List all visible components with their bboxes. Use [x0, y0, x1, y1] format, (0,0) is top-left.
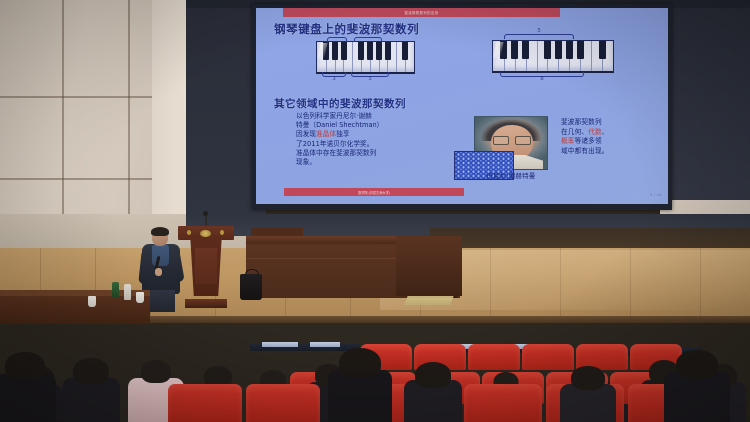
- slide-body-text: 以色列科学家丹尼尔·谢赫 特曼（Daniel Shechtman） 因发现准晶体…: [296, 112, 408, 167]
- right-keyboard: [492, 40, 614, 73]
- presenter-scarf: [152, 244, 169, 266]
- right-line-2-a: 在几何、: [561, 128, 588, 136]
- portrait-caption: 丹尼尔·谢赫特曼: [468, 171, 554, 180]
- podium-emblem: [200, 230, 211, 237]
- body-line-1: 以色列科学家丹尼尔·谢赫: [296, 112, 408, 121]
- audience-member: [664, 350, 730, 422]
- audience-area: [0, 300, 750, 422]
- seat: [464, 384, 542, 422]
- slide-footer-bar: 数学院 (内蒙古师大学): [284, 188, 464, 196]
- slide-header-text: 斐波那契数列的应用: [404, 10, 438, 15]
- audience-member: [62, 358, 120, 422]
- bracket-label: 2: [327, 31, 347, 37]
- lecture-hall-scene: 斐波那契数列的应用 钢琴键盘上的斐波那契数列: [0, 0, 750, 422]
- projected-slide: 斐波那契数列的应用 钢琴键盘上的斐波那契数列: [256, 8, 668, 204]
- right-line-3-b: 等诸多领: [575, 137, 602, 145]
- body-line-2-en: Daniel Shechtman: [316, 121, 377, 129]
- stage-table-right: [396, 236, 462, 296]
- slide-page-number: 9 / 48: [650, 193, 662, 197]
- bracket-label: 8: [500, 76, 584, 82]
- audience-member: [560, 366, 616, 422]
- body-line-3: 因发现准晶体独享: [296, 130, 408, 139]
- body-line-3-suffix: 独享: [336, 130, 349, 138]
- dark-wall-panel-right: [672, 0, 750, 214]
- seat: [246, 384, 320, 422]
- wall-pilaster: [152, 0, 188, 232]
- water-bottle: [112, 282, 119, 298]
- audience-member: [404, 362, 462, 422]
- wooden-podium: [178, 226, 234, 308]
- audience-member: [328, 348, 392, 422]
- right-line-3: 概率等诸多领: [561, 137, 633, 147]
- body-line-6: 现象。: [296, 158, 408, 167]
- right-line-1: 斐波那契数列: [561, 118, 633, 128]
- body-line-2-suffix: ）: [377, 121, 384, 129]
- left-keyboard: [316, 41, 415, 74]
- slide-header-bar: 斐波那契数列的应用: [283, 8, 560, 17]
- right-line-3-highlight: 概率: [561, 137, 575, 145]
- glasses-icon: [493, 136, 531, 143]
- right-line-2-highlight: 代数: [588, 128, 602, 136]
- right-line-2: 在几何、代数、: [561, 128, 633, 138]
- water-bottle: [124, 284, 131, 300]
- seat: [168, 384, 242, 422]
- body-line-5: 准晶体中存在斐波那契数列: [296, 149, 408, 158]
- bracket-label: 3: [354, 31, 382, 37]
- bracket-label: 5: [504, 28, 574, 34]
- slide-right-text: 斐波那契数列 在几何、代数、 概率等诸多领 域中都有出现。: [561, 118, 633, 156]
- body-line-3-highlight: 准晶体: [316, 130, 336, 138]
- bag-on-floor: [240, 274, 262, 300]
- right-line-4: 域中都有出现。: [561, 147, 633, 157]
- bracket-label: 3: [322, 76, 346, 82]
- body-line-2-prefix: 特曼（: [296, 121, 316, 129]
- audience-member: [0, 352, 56, 422]
- right-line-2-b: 、: [602, 128, 609, 136]
- slide-footer-text: 数学院 (内蒙古师大学): [358, 190, 390, 195]
- body-line-4: 了2011年诺贝尔化学奖。: [296, 140, 408, 149]
- bracket-label: 5: [351, 76, 389, 82]
- slide-section-title: 其它领域中的斐波那契数列: [274, 96, 406, 111]
- body-line-3-prefix: 因发现: [296, 130, 316, 138]
